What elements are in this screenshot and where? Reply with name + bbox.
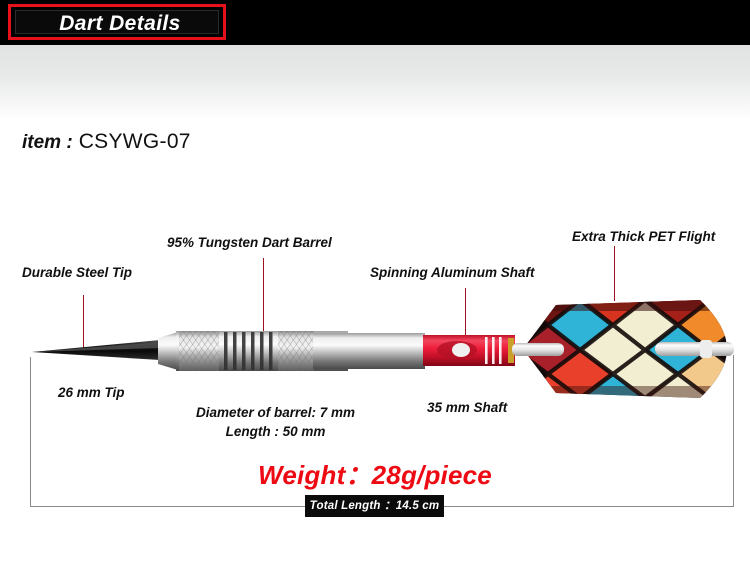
gradient-band [0, 45, 750, 120]
header-bar: Dart Details [0, 0, 750, 45]
measure-shaft: 35 mm Shaft [427, 400, 507, 415]
weight-text: Weight：28g/piece [258, 455, 492, 492]
callout-flight: Extra Thick PET Flight [572, 229, 715, 244]
callout-shaft: Spinning Aluminum Shaft [370, 265, 535, 280]
header-title-box: Dart Details [8, 4, 226, 40]
leader-line-flight [614, 246, 615, 301]
item-label: item : [22, 132, 73, 153]
measure-tip: 26 mm Tip [58, 385, 125, 400]
dimension-line-right [733, 355, 734, 506]
measure-barrel: Diameter of barrel: 7 mm Length : 50 mm [196, 403, 355, 441]
measure-barrel-diameter: Diameter of barrel: 7 mm [196, 403, 355, 422]
page-title: Dart Details [11, 7, 229, 43]
leader-line-barrel [263, 258, 264, 338]
callout-steel-tip: Durable Steel Tip [22, 265, 132, 280]
leader-line-steel-tip [83, 295, 84, 350]
total-length-label: Total Length ：14.5 cm [305, 495, 444, 517]
dimension-line-left [30, 357, 31, 506]
callout-barrel: 95% Tungsten Dart Barrel [167, 235, 332, 250]
measure-barrel-length: Length : 50 mm [196, 422, 355, 441]
item-line: item :CSYWG-07 [22, 130, 191, 154]
item-value: CSYWG-07 [79, 130, 191, 153]
leader-line-shaft [465, 288, 466, 346]
product-detail-page: Dart Details item :CSYWG-07 Durable Stee… [0, 0, 750, 588]
